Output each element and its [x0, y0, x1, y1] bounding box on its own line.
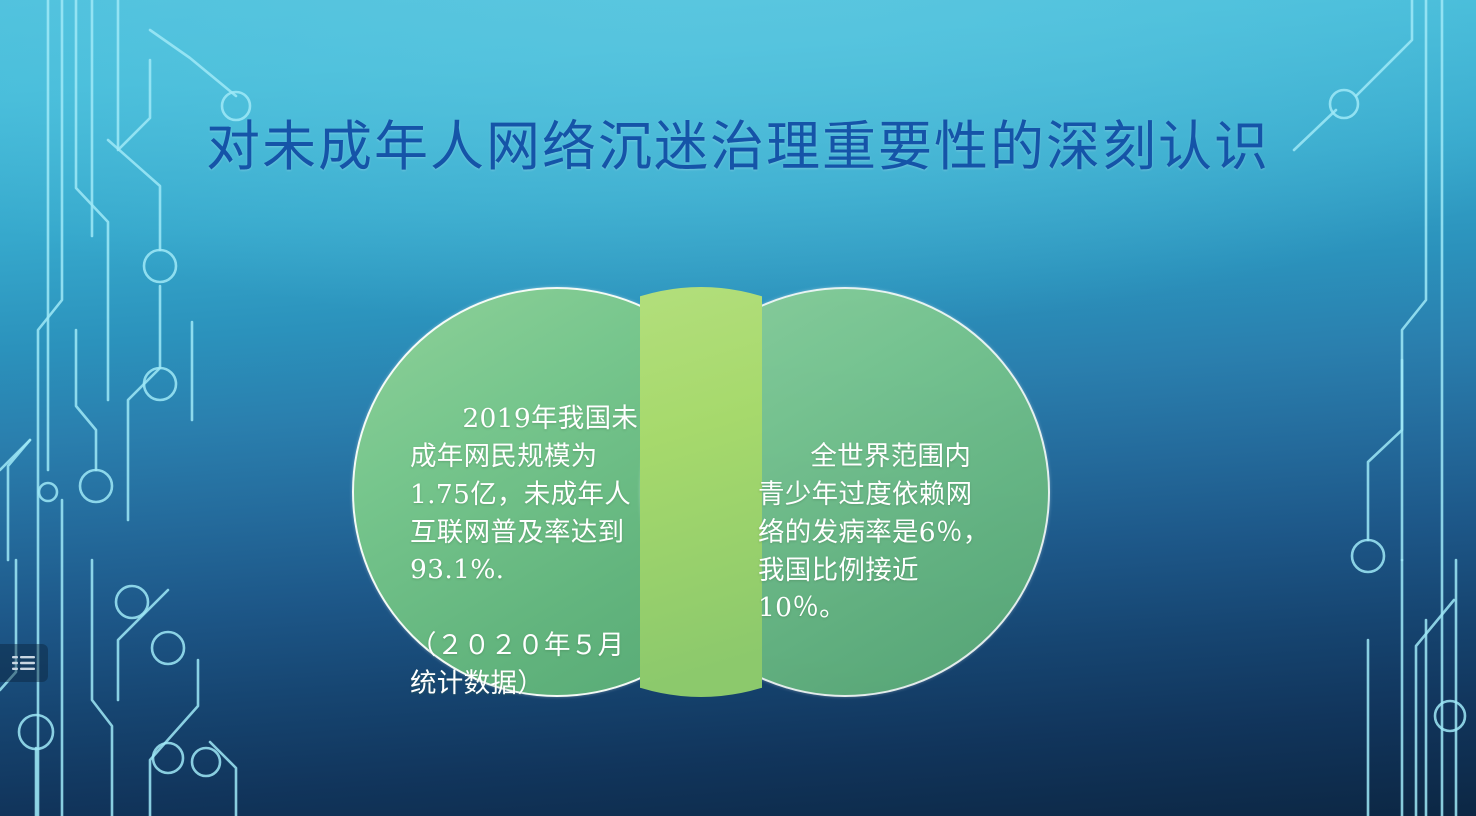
list-menu-icon	[12, 655, 36, 671]
venn-left-note: （２０２０年５月统计数据）	[410, 627, 642, 703]
slide-title: 对未成年人网络沉迷治理重要性的深刻认识	[0, 116, 1476, 178]
venn-left-text: 2019年我国未成年网民规模为1.75亿，未成年人互联网普及率达到93.1%. …	[410, 362, 642, 779]
venn-left-body: 2019年我国未成年网民规模为1.75亿，未成年人互联网普及率达到93.1%.	[410, 403, 638, 586]
menu-overlay-button[interactable]	[0, 644, 48, 682]
venn-right-body: 全世界范围内青少年过度依赖网络的发病率是6％，我国比例接近10％。	[758, 441, 990, 624]
presentation-slide: 对未成年人网络沉迷治理重要性的深刻认识 2019年我国未成年网民规模为1.75亿…	[0, 0, 1476, 816]
venn-right-text: 全世界范围内青少年过度依赖网络的发病率是6％，我国比例接近10％。	[758, 400, 994, 665]
venn-diagram: 2019年我国未成年网民规模为1.75亿，未成年人互联网普及率达到93.1%. …	[352, 287, 1050, 699]
